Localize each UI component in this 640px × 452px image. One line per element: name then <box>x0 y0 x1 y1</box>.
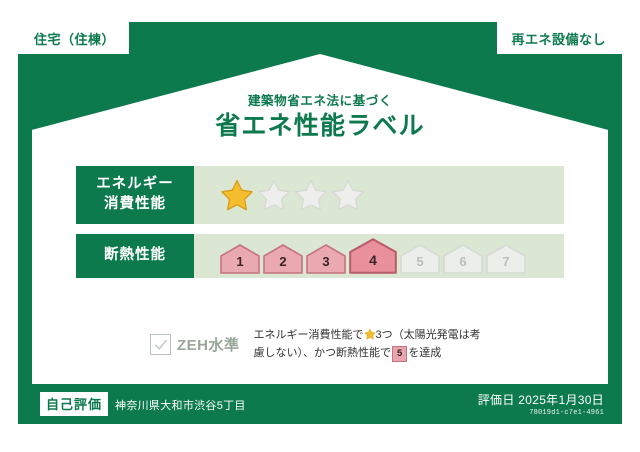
rating-row-energy-consumption: エネルギー 消費性能 <box>76 166 564 224</box>
grade-number: 1 <box>236 254 243 274</box>
rating-label-energy-consumption: エネルギー 消費性能 <box>76 166 194 224</box>
renewable-energy-tab: 再エネ設備なし <box>497 22 622 54</box>
insulation-grade-6: 6 <box>443 244 483 274</box>
zeh-desc-part2: 3つ（太陽光発電 <box>376 329 459 341</box>
grade-number: 3 <box>322 254 329 274</box>
evaluation-date: 評価日 2025年1月30日 <box>478 391 604 408</box>
label-footer: 自己評価 神奈川県大和市渋谷5丁目 評価日 2025年1月30日 78019d1… <box>18 384 622 424</box>
star-icon-empty-3 <box>294 178 328 212</box>
rating-rows: エネルギー 消費性能 <box>76 166 564 288</box>
insulation-grade-scale: 1 2 3 <box>220 238 526 274</box>
insulation-grade-1: 1 <box>220 244 260 274</box>
star-icon-empty-4 <box>331 178 365 212</box>
evaluation-id: 78019d1-c7e1-4961 <box>478 409 604 417</box>
insulation-grade-7: 7 <box>486 244 526 274</box>
zeh-badge: ZEH水準 <box>150 334 240 355</box>
rating-label-line1: エネルギー <box>96 175 174 195</box>
checkmark-icon <box>154 338 168 352</box>
footer-left-group: 自己評価 神奈川県大和市渋谷5丁目 <box>40 392 246 416</box>
building-type-tab: 住宅（住棟） <box>18 22 129 54</box>
rating-label-line2: 消費性能 <box>104 195 166 215</box>
property-address: 神奈川県大和市渋谷5丁目 <box>115 397 246 413</box>
energy-performance-label-card: 建築物省エネ法に基づく 省エネ性能ラベル エネルギー 消費性能 <box>18 22 622 424</box>
footer-right-group: 評価日 2025年1月30日 78019d1-c7e1-4961 <box>478 391 604 417</box>
rating-value-energy-consumption <box>194 166 564 224</box>
zeh-desc-grade-badge: 5 <box>392 346 407 363</box>
star-icon-filled-1 <box>220 178 254 212</box>
rating-label-insulation: 断熱性能 <box>76 234 194 278</box>
evaluation-type-badge: 自己評価 <box>40 392 108 416</box>
insulation-grade-5: 5 <box>400 244 440 274</box>
star-rating <box>220 178 365 212</box>
grade-number: 6 <box>459 254 466 274</box>
grade-number: 7 <box>502 254 509 274</box>
label-subtitle: 建築物省エネ法に基づく <box>18 94 622 109</box>
label-title: 省エネ性能ラベル <box>18 111 622 142</box>
insulation-grade-3: 3 <box>306 244 346 274</box>
zeh-description: エネルギー消費性能で3つ（太陽光発電は考慮しない）、かつ断熱性能で5を達成 <box>254 327 486 362</box>
zeh-checkbox[interactable] <box>150 334 171 355</box>
star-icon-inline <box>364 328 376 340</box>
zeh-desc-part4: を達成 <box>408 347 441 359</box>
zeh-standard-block: ZEH水準 エネルギー消費性能で3つ（太陽光発電は考慮しない）、かつ断熱性能で5… <box>150 327 486 362</box>
label-title-block: 建築物省エネ法に基づく 省エネ性能ラベル <box>18 94 622 142</box>
grade-number: 2 <box>279 254 286 274</box>
grade-number: 4 <box>369 252 377 274</box>
zeh-label: ZEH水準 <box>177 334 240 355</box>
grade-number: 5 <box>416 254 423 274</box>
star-icon-empty-2 <box>257 178 291 212</box>
zeh-desc-part1: エネルギー消費性能で <box>254 329 364 341</box>
rating-value-insulation: 1 2 3 <box>194 234 564 278</box>
insulation-grade-4-current: 4 <box>349 238 397 274</box>
rating-row-insulation: 断熱性能 1 2 <box>76 234 564 278</box>
insulation-grade-2: 2 <box>263 244 303 274</box>
rating-label-line1: 断熱性能 <box>104 246 166 266</box>
